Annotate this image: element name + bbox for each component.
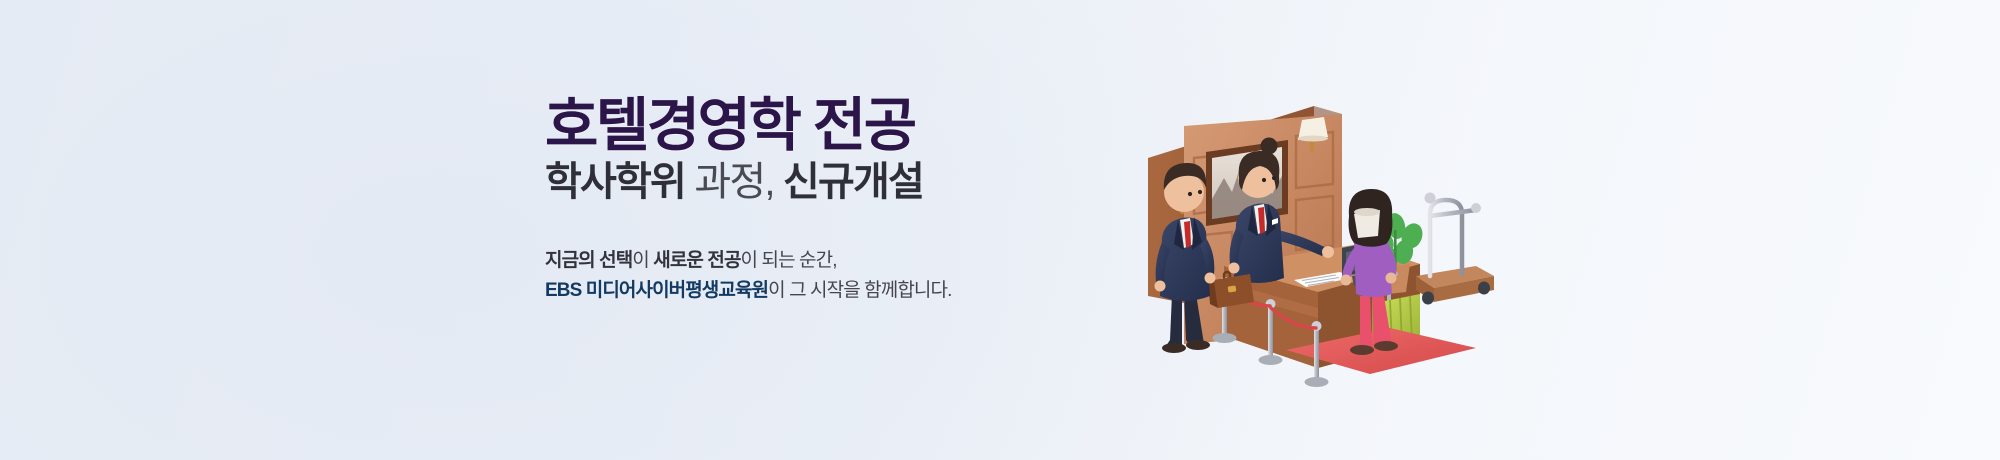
headline-secondary-bold-2: 신규개설 (783, 160, 923, 204)
subcopy-text-1: 이 (632, 250, 653, 271)
subcopy-text-2: 이 되는 순간, (741, 250, 837, 271)
headline-primary: 호텔경영학 전공 (545, 96, 1065, 156)
luggage-cart (1416, 193, 1494, 305)
hotel-scene-svg (1128, 96, 1500, 396)
counter-vase (1354, 208, 1380, 238)
subcopy-line-2: EBS 미디어사이버평생교육원이 그 시작을 함께합니다. (545, 276, 1065, 307)
headline-secondary-regular: 과정, (685, 160, 783, 204)
promo-banner: 호텔경영학 전공 학사학위 과정, 신규개설 지금의 선택이 새로운 전공이 되… (0, 0, 2000, 460)
subcopy-line-1: 지금의 선택이 새로운 전공이 되는 순간, (545, 246, 1065, 277)
brand-name: EBS 미디어사이버평생교육원 (545, 280, 768, 301)
subcopy-emphasis-2: 새로운 전공 (653, 250, 740, 271)
subcopy-emphasis-1: 지금의 선택 (545, 250, 632, 271)
headline-secondary-bold-1: 학사학위 (545, 160, 685, 204)
banner-subcopy: 지금의 선택이 새로운 전공이 되는 순간, EBS 미디어사이버평생교육원이 … (545, 246, 1065, 308)
hotel-reception-illustration (1128, 96, 1500, 396)
headline-secondary: 학사학위 과정, 신규개설 (545, 159, 1065, 205)
subcopy-text-3: 이 그 시작을 함께합니다. (768, 280, 951, 301)
banner-copy-block: 호텔경영학 전공 학사학위 과정, 신규개설 지금의 선택이 새로운 전공이 되… (545, 96, 1065, 307)
